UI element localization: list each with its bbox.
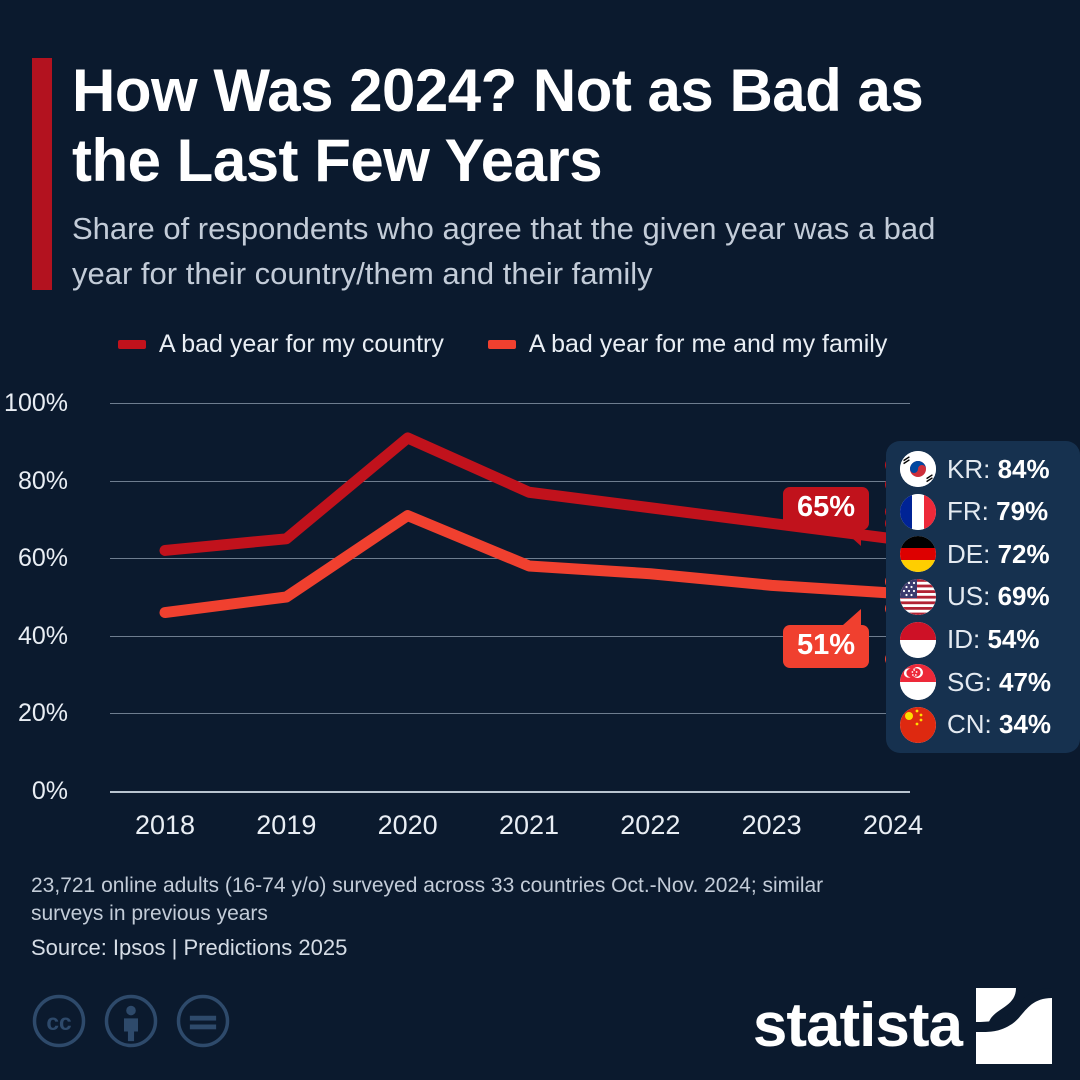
- cc-icon[interactable]: cc: [31, 993, 87, 1049]
- country-row-label: SG: 47%: [947, 667, 1051, 698]
- country-row-label: US: 69%: [947, 581, 1050, 612]
- id-flag-icon: [900, 622, 936, 658]
- country-row-value: 79%: [996, 496, 1048, 526]
- legend-swatch-country: [118, 340, 146, 349]
- cc-nd-equals-icon[interactable]: [175, 993, 231, 1049]
- country-row-id[interactable]: ID: 54%: [900, 621, 1080, 659]
- country-row-label: DE: 72%: [947, 539, 1050, 570]
- callout-tail-family: [843, 609, 861, 625]
- data-label-family: 51%: [783, 625, 869, 668]
- country-row-label: FR: 79%: [947, 496, 1048, 527]
- country-row-kr[interactable]: KR: 84%: [900, 450, 1080, 488]
- country-row-value: 34%: [999, 709, 1051, 739]
- chart-legend: A bad year for my country A bad year for…: [118, 330, 887, 359]
- country-row-value: 84%: [998, 454, 1050, 484]
- country-row-value: 72%: [998, 539, 1050, 569]
- page-subtitle: Share of respondents who agree that the …: [72, 207, 1002, 297]
- legend-label-country: A bad year for my country: [159, 330, 444, 359]
- sg-flag-icon: [900, 664, 936, 700]
- page-title: How Was 2024? Not as Bad as the Last Few…: [72, 56, 972, 196]
- country-row-label: ID: 54%: [947, 624, 1040, 655]
- de-flag-icon: [900, 536, 936, 572]
- country-row-label: CN: 34%: [947, 709, 1051, 740]
- country-row-label: KR: 84%: [947, 454, 1050, 485]
- legend-item-country[interactable]: A bad year for my country: [118, 330, 444, 359]
- cc-by-person-icon[interactable]: [103, 993, 159, 1049]
- cn-flag-icon: [900, 707, 936, 743]
- license-icons: cc: [31, 993, 231, 1049]
- us-flag-icon: [900, 579, 936, 615]
- country-row-de[interactable]: DE: 72%: [900, 535, 1080, 573]
- legend-label-family: A bad year for me and my family: [529, 330, 887, 359]
- data-label-country: 65%: [783, 487, 869, 530]
- title-accent-bar: [32, 58, 52, 290]
- statista-wordmark: statista: [753, 995, 962, 1057]
- country-row-us[interactable]: US: 69%: [900, 578, 1080, 616]
- country-row-value: 69%: [998, 581, 1050, 611]
- statista-mark-icon: [976, 988, 1052, 1064]
- country-row-cn[interactable]: CN: 34%: [900, 706, 1080, 744]
- legend-item-family[interactable]: A bad year for me and my family: [488, 330, 887, 359]
- callout-tail-country: [843, 530, 861, 546]
- data-label-family-text: 51%: [797, 629, 855, 661]
- country-row-fr[interactable]: FR: 79%: [900, 493, 1080, 531]
- country-row-value: 47%: [999, 667, 1051, 697]
- country-row-value: 54%: [987, 624, 1039, 654]
- data-label-country-text: 65%: [797, 491, 855, 523]
- chart-source: Source: Ipsos | Predictions 2025: [31, 935, 347, 961]
- statista-logo: statista: [753, 988, 1052, 1064]
- fr-flag-icon: [900, 494, 936, 530]
- header: How Was 2024? Not as Bad as the Last Few…: [0, 0, 1080, 300]
- kr-flag-icon: [900, 451, 936, 487]
- svg-text:cc: cc: [46, 1009, 71, 1035]
- country-values-panel: KR: 84% FR: 79% DE: 72% US: 69% ID: 54%: [886, 441, 1080, 753]
- chart-footnote: 23,721 online adults (16-74 y/o) surveye…: [31, 872, 891, 929]
- country-row-sg[interactable]: SG: 47%: [900, 663, 1080, 701]
- legend-swatch-family: [488, 340, 516, 349]
